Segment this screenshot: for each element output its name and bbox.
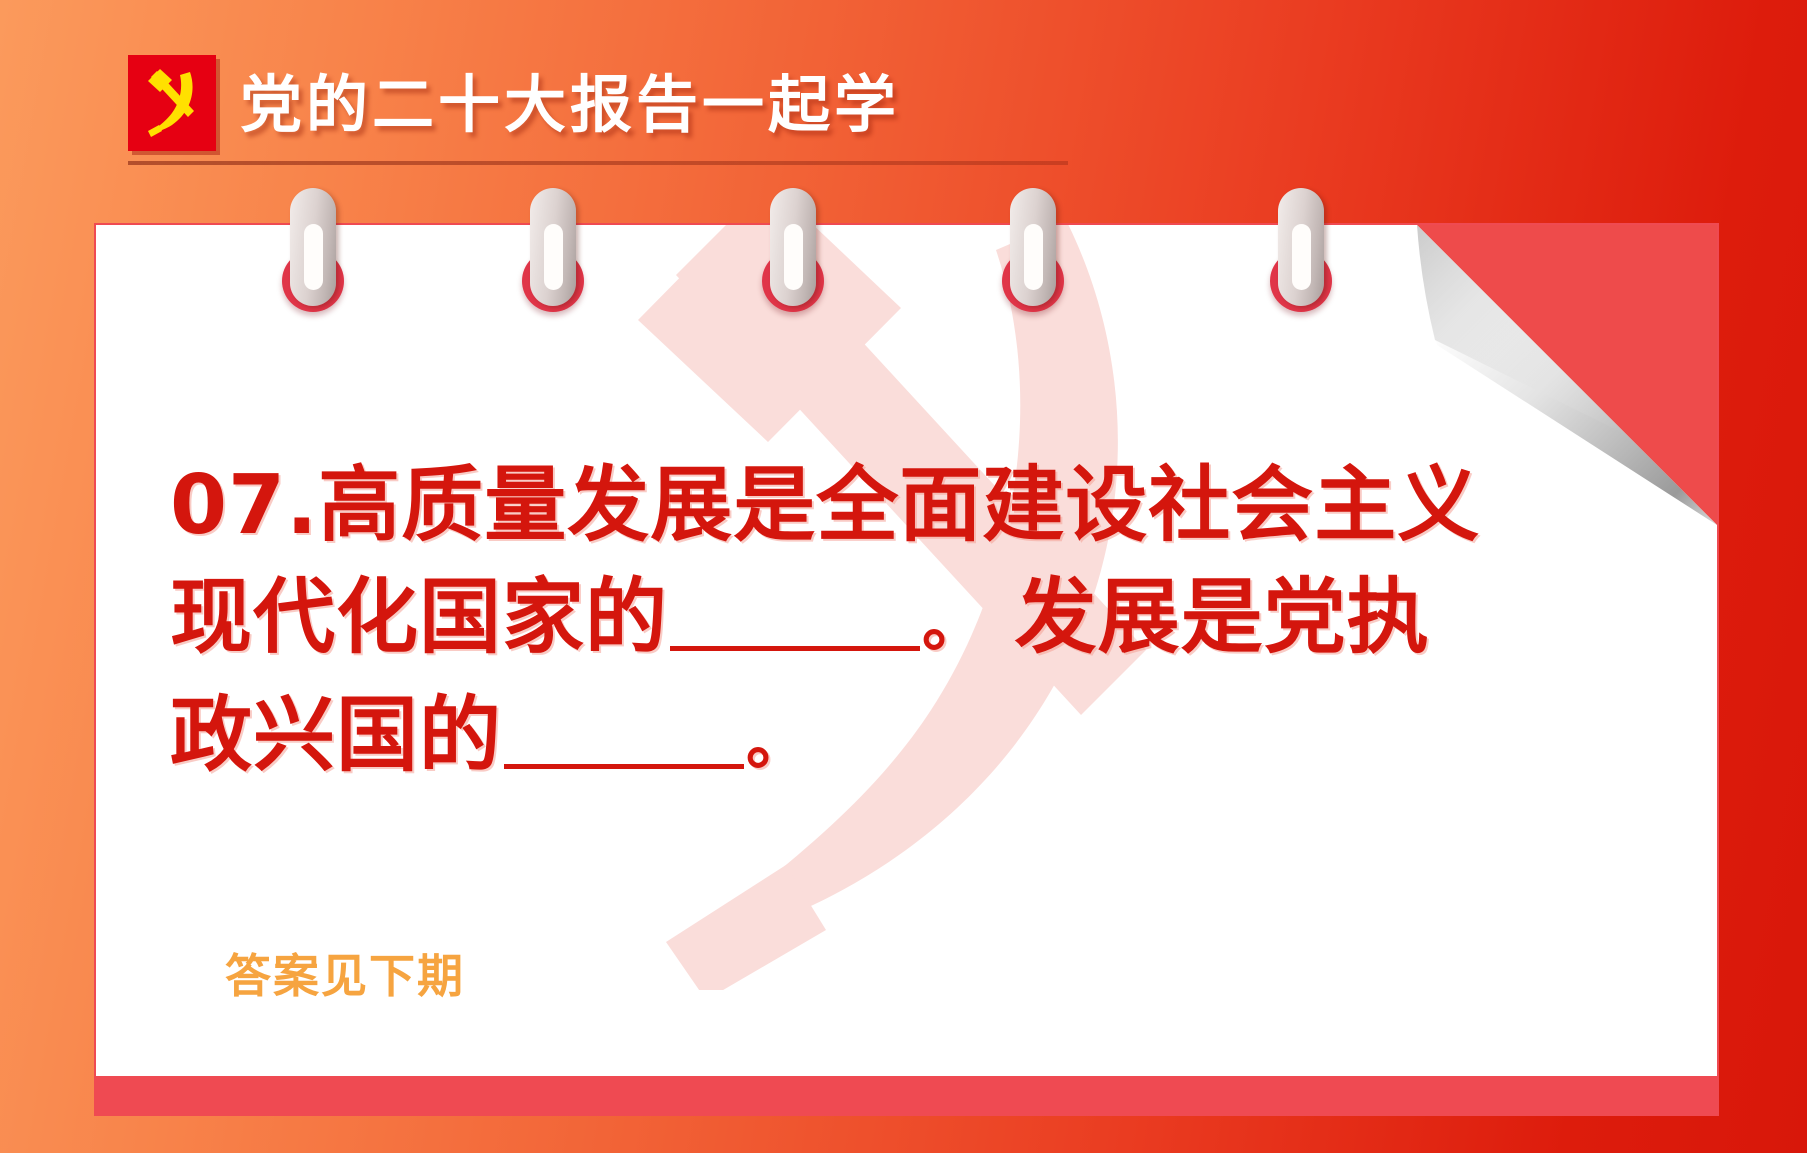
answer-blank-2	[504, 764, 744, 769]
question-line-2-prefix: 现代化国家的	[170, 570, 668, 665]
question-line-1: 07.高质量发展是全面建设社会主义	[170, 450, 1600, 562]
poster-root: 党的二十大报告一起学	[0, 0, 1807, 1153]
question-line-2-tail: 发展是党执	[1015, 570, 1430, 665]
ring-body	[290, 188, 336, 306]
spiral-ring-1	[290, 188, 336, 306]
ring-slot	[1292, 224, 1311, 290]
question-line-3-prefix: 政兴国的	[170, 688, 502, 783]
spiral-ring-4	[1010, 188, 1056, 306]
header-title: 党的二十大报告一起学	[240, 59, 900, 151]
hammer-and-sickle-icon	[128, 55, 216, 151]
spiral-ring-3	[770, 188, 816, 306]
ring-slot	[1024, 224, 1043, 290]
question-line-3-period: 。	[746, 705, 809, 778]
spiral-ring-5	[1278, 188, 1324, 306]
ring-slot	[784, 224, 803, 290]
answer-blank-1	[670, 646, 920, 651]
header: 党的二十大报告一起学	[128, 55, 1088, 165]
ring-body	[1278, 188, 1324, 306]
ring-body	[770, 188, 816, 306]
question-line-3: 政兴国的。	[170, 680, 1600, 798]
party-emblem-badge	[128, 55, 216, 151]
ring-body	[530, 188, 576, 306]
ring-slot	[544, 224, 563, 290]
question-line-2-period: 。	[922, 587, 985, 660]
ring-slot	[304, 224, 323, 290]
header-divider	[128, 161, 1068, 165]
question-text: 07.高质量发展是全面建设社会主义 现代化国家的。 发展是党执 政兴国的。	[170, 450, 1600, 798]
question-line-2: 现代化国家的。 发展是党执	[170, 562, 1600, 680]
answer-note: 答案见下期	[225, 940, 465, 1006]
ring-body	[1010, 188, 1056, 306]
spiral-ring-2	[530, 188, 576, 306]
question-line-1-text: 07.高质量发展是全面建设社会主义	[170, 458, 1480, 553]
